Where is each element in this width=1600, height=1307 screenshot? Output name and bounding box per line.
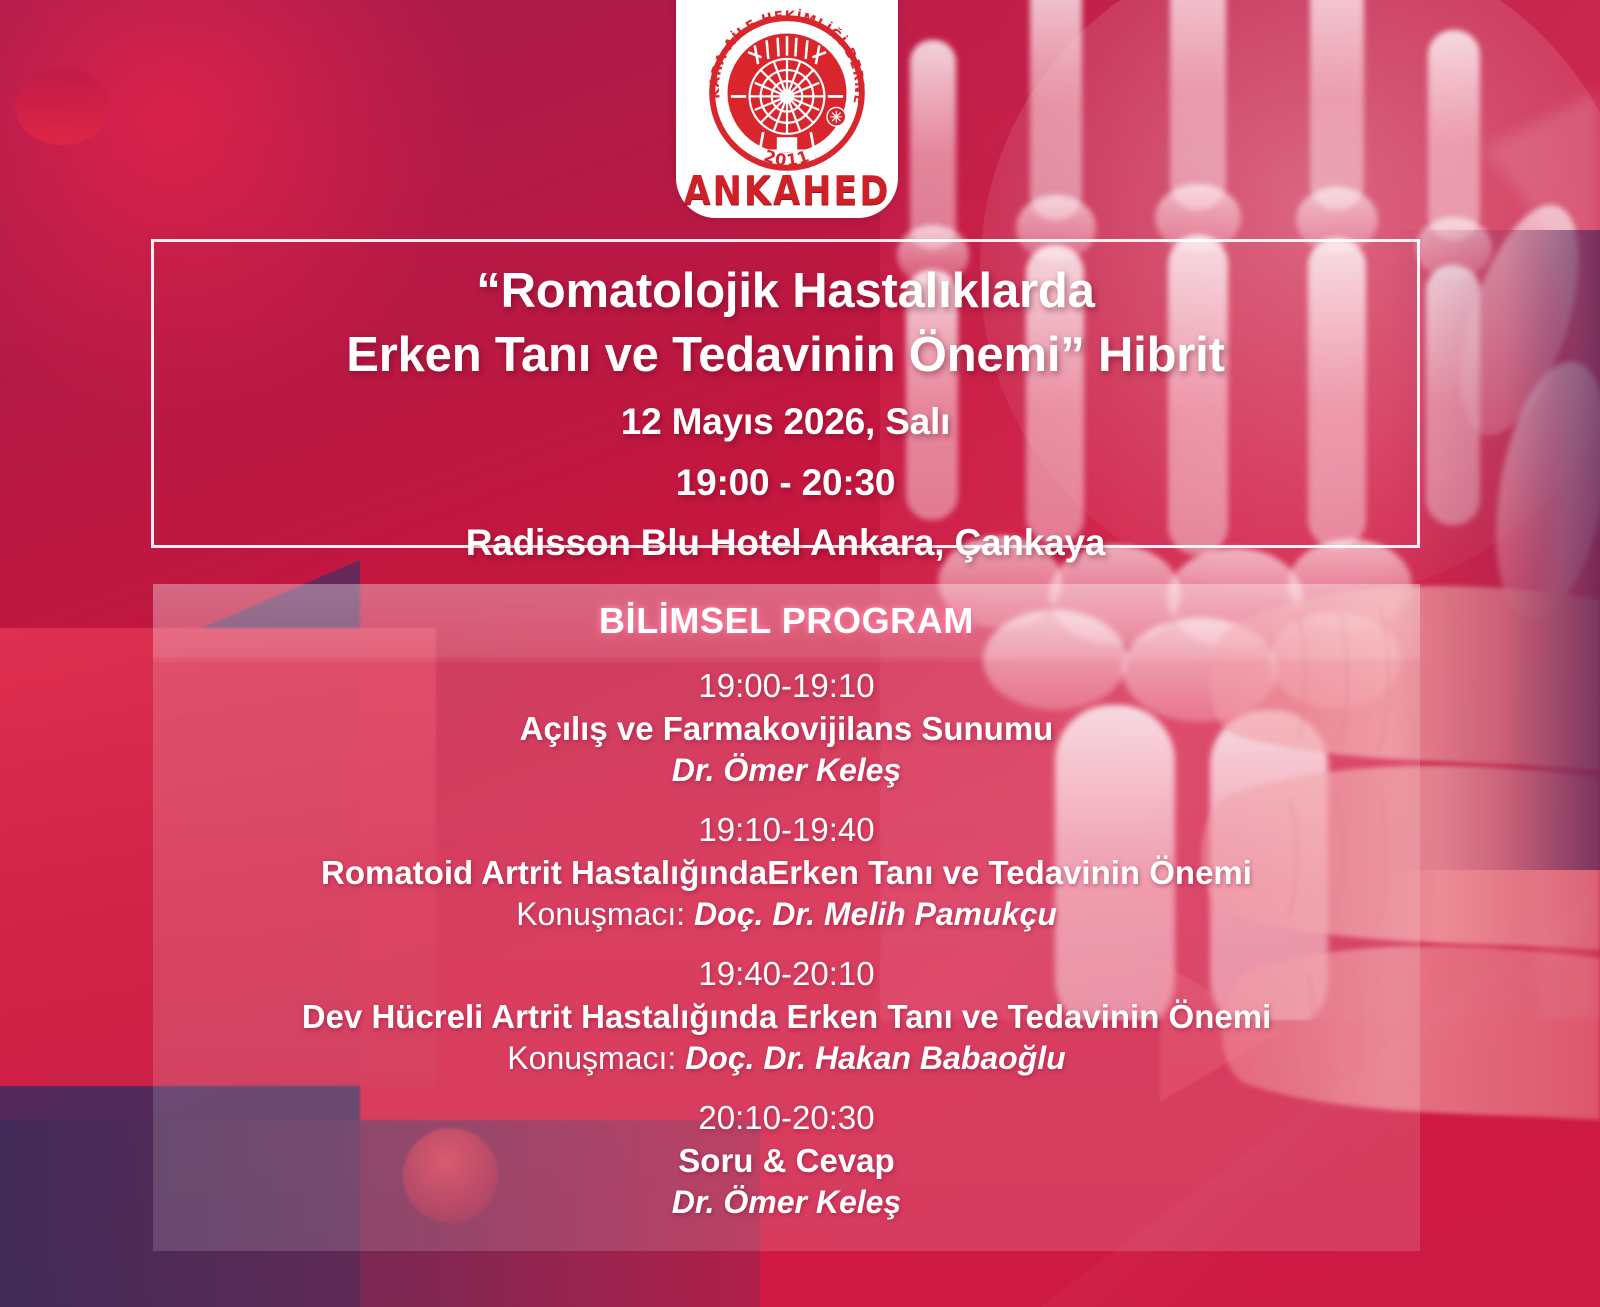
program-item-speaker: Konuşmacı: Doç. Dr. Hakan Babaoğlu (153, 1038, 1420, 1079)
speaker-label: Konuşmacı: (516, 896, 694, 932)
program-item-speaker: Konuşmacı: Doç. Dr. Melih Pamukçu (153, 894, 1420, 935)
event-venue: Radisson Blu Hotel Ankara, Çankaya (154, 518, 1417, 568)
program-item-time: 19:40-20:10 (153, 953, 1420, 996)
program-item: 19:00-19:10 Açılış ve Farmakovijilans Su… (153, 665, 1420, 791)
program-item-time: 20:10-20:30 (153, 1097, 1420, 1140)
program-item-speaker: Dr. Ömer Keleş (153, 750, 1420, 791)
title-line-2: Erken Tanı ve Tedavinin Önemi” Hibrit (154, 324, 1417, 388)
event-date: 12 Mayıs 2026, Salı (154, 397, 1417, 447)
background-circle-top-left (15, 68, 110, 145)
background-shadow-right (1390, 230, 1600, 870)
speaker-name: Dr. Ömer Keleş (672, 1184, 901, 1220)
speaker-name: Dr. Ömer Keleş (672, 752, 901, 788)
event-poster: ANKARA AİLE HEKİMLİĞİ DERNEĞİ 2011 ANKAH… (0, 0, 1600, 1307)
program-item-time: 19:10-19:40 (153, 809, 1420, 852)
title-frame: “Romatolojik Hastalıklarda Erken Tanı ve… (151, 239, 1420, 548)
program-item-topic: Romatoid Artrit HastalığındaErken Tanı v… (153, 852, 1420, 894)
title-line-1: “Romatolojik Hastalıklarda (154, 260, 1417, 324)
program-item-time: 19:00-19:10 (153, 665, 1420, 708)
program-item-topic: Soru & Cevap (153, 1140, 1420, 1182)
program-item-speaker: Dr. Ömer Keleş (153, 1182, 1420, 1223)
speaker-name: Doç. Dr. Hakan Babaoğlu (685, 1040, 1066, 1076)
speaker-name: Doç. Dr. Melih Pamukçu (694, 896, 1057, 932)
program-item-topic: Açılış ve Farmakovijilans Sunumu (153, 708, 1420, 750)
speaker-label: Konuşmacı: (507, 1040, 685, 1076)
program-panel: BİLİMSEL PROGRAM 19:00-19:10 Açılış ve F… (153, 584, 1420, 1251)
event-time: 19:00 - 20:30 (154, 458, 1417, 508)
program-heading: BİLİMSEL PROGRAM (599, 600, 974, 642)
ankahed-logo: ANKARA AİLE HEKİMLİĞİ DERNEĞİ 2011 ANKAH… (676, 0, 898, 218)
logo-wordmark: ANKAHED (684, 172, 891, 212)
program-item: 19:40-20:10 Dev Hücreli Artrit Hastalığı… (153, 953, 1420, 1079)
program-item: 19:10-19:40 Romatoid Artrit Hastalığında… (153, 809, 1420, 935)
program-panel-header: BİLİMSEL PROGRAM (153, 584, 1420, 657)
program-item-topic: Dev Hücreli Artrit Hastalığında Erken Ta… (153, 996, 1420, 1038)
program-item: 20:10-20:30 Soru & Cevap Dr. Ömer Keleş (153, 1097, 1420, 1223)
program-list: 19:00-19:10 Açılış ve Farmakovijilans Su… (153, 657, 1420, 1223)
ankahed-globe-emblem-icon: ANKARA AİLE HEKİMLİĞİ DERNEĞİ 2011 (702, 7, 872, 179)
